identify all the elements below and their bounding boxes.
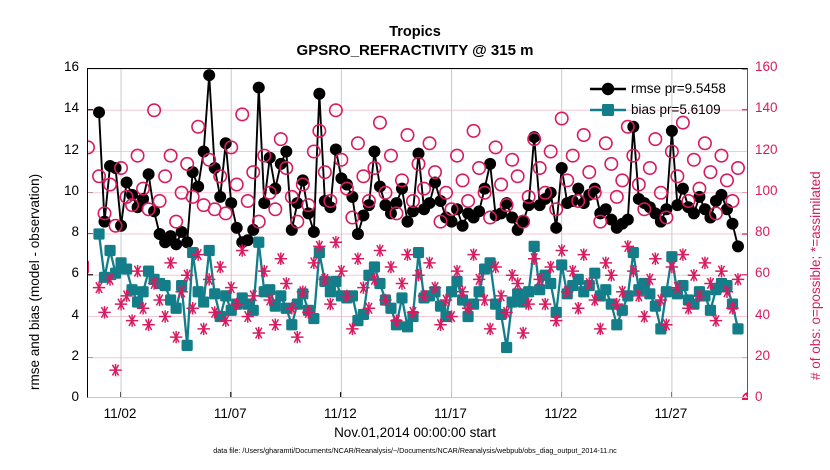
y-tick-left-0: 0 (33, 389, 79, 404)
y-tick-right-20: 20 (755, 348, 795, 363)
y-tick-right-80: 80 (755, 224, 795, 239)
y-tick-right-0: 0 (755, 389, 795, 404)
legend-label-rmse: rmse pr=9.5458 (631, 81, 726, 96)
y-tick-right-100: 100 (755, 183, 795, 198)
x-tick-11/07: 11/07 (190, 406, 270, 421)
y-tick-right-60: 60 (755, 265, 795, 280)
y-tick-right-120: 120 (755, 142, 795, 157)
data-file-caption: data file: /Users/gharamti/Documents/NCA… (0, 446, 830, 455)
page-subtitle: GPSRO_REFRACTIVITY @ 315 m (0, 42, 830, 59)
y-tick-right-140: 140 (755, 100, 795, 115)
legend-item-bias[interactable]: bias pr=5.6109 (588, 99, 758, 120)
y-tick-left-6: 6 (33, 265, 79, 280)
y-tick-left-12: 12 (33, 142, 79, 157)
legend: rmse pr=9.5458 bias pr=5.6109 (588, 78, 758, 120)
y-tick-right-40: 40 (755, 307, 795, 322)
y-tick-right-160: 160 (755, 59, 795, 74)
x-axis-label: Nov.01,2014 00:00:00 start (0, 425, 830, 440)
x-tick-11/22: 11/22 (521, 406, 601, 421)
y-tick-left-4: 4 (33, 307, 79, 322)
y-tick-left-8: 8 (33, 224, 79, 239)
legend-label-bias: bias pr=5.6109 (631, 102, 721, 117)
y-tick-left-2: 2 (33, 348, 79, 363)
y-tick-left-16: 16 (33, 59, 79, 74)
x-tick-11/17: 11/17 (411, 406, 491, 421)
y-axis-right-label: # of obs: o=possible; *=assimilated (808, 171, 823, 380)
filled-square-icon (588, 101, 628, 119)
y-tick-left-10: 10 (33, 183, 79, 198)
x-tick-11/12: 11/12 (300, 406, 380, 421)
filled-circle-icon (588, 80, 628, 98)
legend-item-rmse[interactable]: rmse pr=9.5458 (588, 78, 758, 99)
x-tick-11/02: 11/02 (80, 406, 160, 421)
page-title: Tropics (0, 24, 830, 40)
x-tick-11/27: 11/27 (631, 406, 711, 421)
y-tickmark-right (742, 398, 748, 400)
plot-figure: Tropics GPSRO_REFRACTIVITY @ 315 m rmse … (0, 0, 830, 470)
y-tick-left-14: 14 (33, 100, 79, 115)
